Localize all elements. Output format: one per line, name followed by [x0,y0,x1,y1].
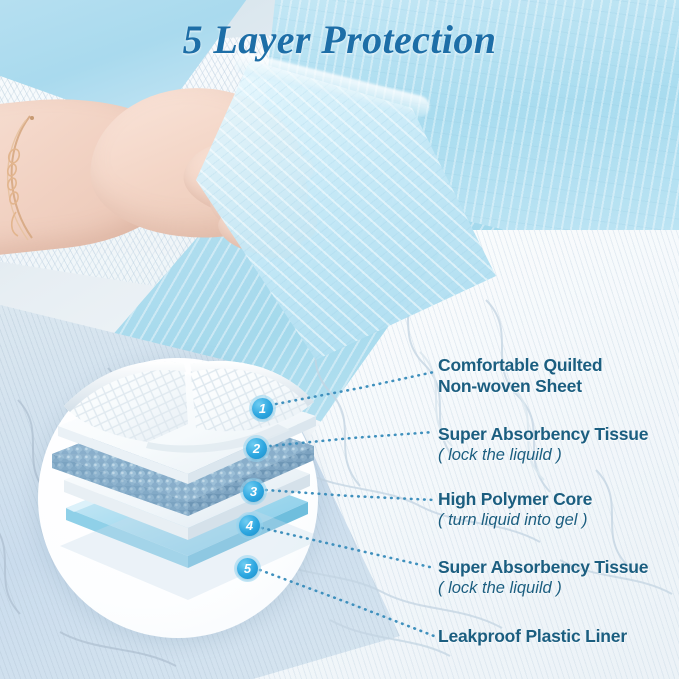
page-title: 5 Layer Protection [0,16,679,63]
layer-label-4-line1: Super Absorbency Tissue [438,557,648,577]
layer-badge-3: 3 [243,481,264,502]
layer-badge-1: 1 [252,398,273,419]
layer-label-3: High Polymer Core ( turn liquid into gel… [438,489,592,531]
layer-label-5-line1: Leakproof Plastic Liner [438,626,627,646]
layer-label-1-line2: Non-woven Sheet [438,376,582,396]
exploded-layer-stack [38,350,338,650]
layer-badge-4: 4 [239,515,260,536]
layer-label-2-sub: ( lock the liquild ) [438,445,648,466]
layer-label-1-line1: Comfortable Quilted [438,355,602,375]
layer-label-4: Super Absorbency Tissue ( lock the liqui… [438,557,648,599]
layer-badge-2: 2 [246,438,267,459]
layer-label-2-line1: Super Absorbency Tissue [438,424,648,444]
layer-label-3-sub: ( turn liquid into gel ) [438,510,592,531]
infographic-canvas: 1 2 3 4 5 5 Layer Protection Comfortable… [0,0,679,679]
layer-badge-5: 5 [237,558,258,579]
layer-label-4-sub: ( lock the liquild ) [438,578,648,599]
layer-label-1: Comfortable Quilted Non-woven Sheet [438,355,602,397]
layer-label-3-line1: High Polymer Core [438,489,592,509]
bracelet-chain-icon [0,112,86,242]
layer-label-2: Super Absorbency Tissue ( lock the liqui… [438,424,648,466]
layer-label-5: Leakproof Plastic Liner [438,626,627,647]
